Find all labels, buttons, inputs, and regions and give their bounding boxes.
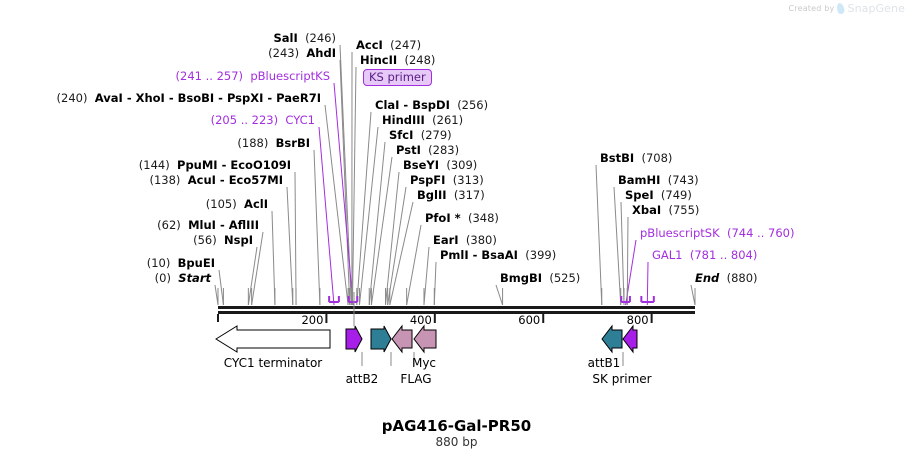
feature-caption-flag: FLAG	[400, 372, 431, 386]
site-label-position: (188)	[237, 136, 268, 150]
site-label-name: pBluescriptSK	[640, 226, 720, 240]
site-label-bstbi[interactable]: BstBI (708)	[600, 152, 672, 164]
site-label-position: (880)	[727, 271, 758, 285]
site-label-name: AccI	[356, 38, 383, 52]
feature-arrow-flag[interactable]	[371, 326, 391, 352]
site-label-pspfi[interactable]: PspFI (313)	[410, 174, 484, 186]
site-label-name: AvaI - XhoI - BsoBI - PspXI - PaeR7I	[95, 91, 321, 105]
site-label-name: PmlI - BsaAI	[440, 248, 518, 262]
site-label-position: (399)	[525, 248, 556, 262]
site-label-position: (708)	[641, 151, 672, 165]
site-label-ppumI[interactable]: (144) PpuMI - EcoO109I	[139, 159, 291, 171]
page-title: pAG416-Gal-PR50	[0, 417, 913, 435]
site-label-name: HincII	[360, 53, 397, 67]
site-label-mluI[interactable]: (62) MluI - AflIII	[157, 219, 259, 231]
feature-caption-attb2: attB2	[346, 372, 379, 386]
site-label-position: (309)	[446, 158, 477, 172]
site-label-name: BseYI	[403, 158, 439, 172]
site-label-name: GAL1	[652, 248, 683, 262]
site-label-bglii[interactable]: BglII (317)	[417, 189, 485, 201]
site-label-name: AclI	[244, 197, 268, 211]
site-label-name: PfoI *	[425, 211, 461, 225]
site-label-position: (317)	[454, 188, 485, 202]
site-label-position: (348)	[468, 211, 499, 225]
site-label-name: SpeI	[625, 188, 654, 202]
site-label-name: PspFI	[410, 173, 445, 187]
caption-connectors	[354, 292, 623, 366]
site-label-clai[interactable]: ClaI - BspDI (256)	[375, 99, 488, 111]
site-label-bsrBI[interactable]: (188) BsrBI	[237, 137, 310, 149]
site-label-name: SalI	[273, 31, 297, 45]
feature-bracket-marks	[329, 296, 654, 302]
site-label-position: (10)	[147, 256, 171, 270]
site-label-name: BamHI	[618, 173, 660, 187]
site-label-pbluescriptks[interactable]: (241 .. 257) pBluescriptKS	[176, 70, 330, 82]
site-label-bseyi[interactable]: BseYI (309)	[403, 159, 477, 171]
site-label-position: (283)	[428, 143, 459, 157]
site-label-name: BglII	[417, 188, 447, 202]
site-label-name: CYC1	[285, 113, 315, 127]
feature-arrow-myc[interactable]	[414, 326, 436, 352]
site-label-bpuEI[interactable]: (10) BpuEI	[147, 257, 215, 269]
feature-arrow-cyc1-terminator[interactable]	[216, 326, 330, 352]
site-label-name: EarI	[433, 233, 459, 247]
site-label-ahdI[interactable]: (243) AhdI	[268, 47, 336, 59]
site-label-name: BsrBI	[276, 136, 310, 150]
ruler-tick-200: 200	[301, 313, 323, 327]
site-label-position: (247)	[390, 38, 421, 52]
site-label-position: (241 .. 257)	[176, 69, 244, 83]
site-label-name: BstBI	[600, 151, 634, 165]
site-label-pbluescriptsk[interactable]: pBluescriptSK (744 .. 760)	[640, 227, 794, 239]
site-label-name: PpuMI - EcoO109I	[177, 158, 291, 172]
site-label-position: (0)	[155, 271, 171, 285]
site-label-position: (755)	[668, 203, 699, 217]
site-label-bamhi[interactable]: BamHI (743)	[618, 174, 699, 186]
site-label-name: ClaI - BspDI	[375, 98, 450, 112]
site-label-position: (781 .. 804)	[690, 248, 758, 262]
site-label-acuI[interactable]: (138) AcuI - Eco57MI	[149, 174, 283, 186]
feature-arrow-myc-1[interactable]	[392, 326, 412, 352]
site-label-start[interactable]: (0) Start	[155, 272, 211, 284]
site-label-position: (525)	[549, 271, 580, 285]
site-label-position: (256)	[457, 98, 488, 112]
site-label-salI[interactable]: SalI (246)	[273, 32, 336, 44]
site-label-position: (248)	[404, 53, 435, 67]
site-label-bmgbi[interactable]: BmgBI (525)	[500, 272, 580, 284]
site-label-aclI[interactable]: (105) AclI	[206, 198, 268, 210]
site-label-xbai[interactable]: XbaI (755)	[632, 204, 699, 216]
site-label-end[interactable]: End (880)	[695, 272, 758, 284]
site-label-accI[interactable]: AccI (247)	[356, 39, 421, 51]
site-label-position: (138)	[149, 173, 180, 187]
feature-arrow-sk-primer[interactable]	[623, 326, 637, 352]
site-label-gal1[interactable]: GAL1 (781 .. 804)	[652, 249, 757, 261]
site-label-position: (105)	[206, 197, 237, 211]
feature-caption-sk-primer: SK primer	[592, 372, 651, 386]
site-label-hindiii[interactable]: HindIII (261)	[382, 114, 463, 126]
site-label-name: AcuI - Eco57MI	[188, 173, 283, 187]
site-label-position: (261)	[432, 113, 463, 127]
site-label-name: PstI	[396, 143, 421, 157]
feature-caption-cyc1-terminator: CYC1 terminator	[224, 356, 322, 370]
site-label-position: (205 .. 223)	[211, 113, 279, 127]
plasmid-length: 880 bp	[0, 435, 913, 449]
site-label-position: (246)	[305, 31, 336, 45]
feature-arrow-attb2[interactable]	[346, 326, 362, 352]
site-label-pmli[interactable]: PmlI - BsaAI (399)	[440, 249, 556, 261]
site-label-position: (380)	[466, 233, 497, 247]
site-label-position: (313)	[453, 173, 484, 187]
site-label-name: pBluescriptKS	[250, 69, 330, 83]
site-label-name: XbaI	[632, 203, 661, 217]
site-label-avaI[interactable]: (240) AvaI - XhoI - BsoBI - PspXI - PaeR…	[57, 92, 321, 104]
feature-caption-myc: Myc	[412, 356, 436, 370]
ruler-tick-800: 800	[627, 313, 649, 327]
site-label-position: (279)	[421, 128, 452, 142]
plasmid-backbone	[218, 306, 695, 314]
plasmid-map-canvas: Created by SnapGene SalI (246)(243) AhdI…	[0, 0, 913, 456]
site-label-psti[interactable]: PstI (283)	[396, 144, 459, 156]
site-label-name: BmgBI	[500, 271, 542, 285]
site-label-position: (743)	[668, 173, 699, 187]
site-label-position: (749)	[661, 188, 692, 202]
site-label-position: (240)	[57, 91, 88, 105]
site-label-position: (62)	[157, 218, 181, 232]
ruler-tick-400: 400	[410, 313, 432, 327]
site-label-position: (56)	[193, 233, 217, 247]
feature-arrow-attb1[interactable]	[602, 326, 622, 352]
feature-arrows	[216, 326, 637, 352]
site-label-position: (243)	[268, 46, 299, 60]
site-label-position: (144)	[139, 158, 170, 172]
site-label-name: End	[695, 271, 719, 285]
site-label-position: (744 .. 760)	[727, 226, 795, 240]
site-label-name: AhdI	[306, 46, 336, 60]
ruler-ticks	[218, 314, 652, 323]
site-label-name: SfcI	[389, 128, 413, 142]
site-label-name: NspI	[224, 233, 253, 247]
site-label-spei[interactable]: SpeI (749)	[625, 189, 692, 201]
ruler-tick-600: 600	[518, 313, 540, 327]
site-label-name: MluI - AflIII	[188, 218, 259, 232]
site-label-nspI[interactable]: (56) NspI	[193, 234, 253, 246]
site-label-name: HindIII	[382, 113, 425, 127]
ks-primer-badge[interactable]: KS primer	[363, 69, 432, 86]
site-label-eari[interactable]: EarI (380)	[433, 234, 497, 246]
site-label-hincII[interactable]: HincII (248)	[360, 54, 435, 66]
site-label-name: Start	[178, 271, 211, 285]
site-label-sfci[interactable]: SfcI (279)	[389, 129, 452, 141]
feature-caption-attb1: attB1	[588, 356, 621, 370]
site-label-pfoi[interactable]: PfoI * (348)	[425, 212, 499, 224]
site-label-name: BpuEI	[178, 256, 215, 270]
site-label-cyc1[interactable]: (205 .. 223) CYC1	[211, 114, 315, 126]
